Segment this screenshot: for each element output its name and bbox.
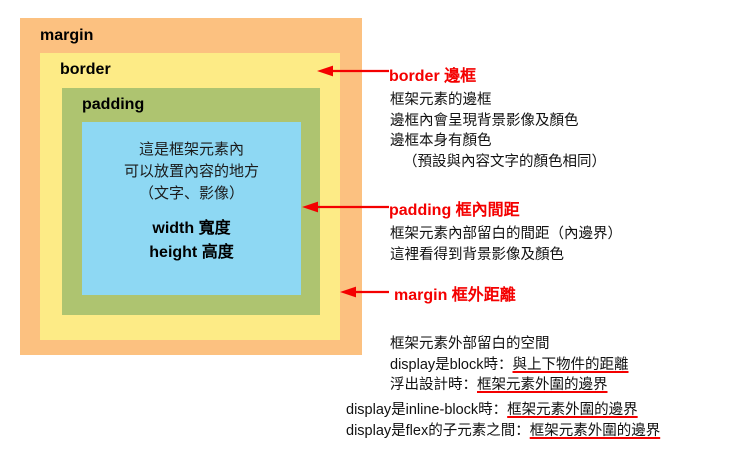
content-box-description: 這是框架元素內 可以放置內容的地方 （文字、影像） bbox=[124, 139, 259, 204]
margin-annotation-line-2: display是block時：與上下物件的距離 bbox=[390, 355, 629, 376]
content-line-1: 這是框架元素內 bbox=[124, 139, 259, 161]
margin-line-2-emphasis: 與上下物件的距離 bbox=[513, 357, 629, 373]
height-label: height 高度 bbox=[149, 241, 233, 265]
content-box-dimensions: width 寬度 height 高度 bbox=[149, 217, 233, 265]
border-annotation-line-3: 邊框本身有顏色 bbox=[390, 131, 606, 152]
bottom-line-1-prefix: display是inline-block時： bbox=[346, 402, 507, 418]
box-model-illustration: margin border padding 這是框架元素內 可以放置內容的地方 … bbox=[0, 0, 750, 461]
bottom-notes-block: display是inline-block時：框架元素外圍的邊界 display是… bbox=[346, 400, 660, 441]
padding-box: padding 這是框架元素內 可以放置內容的地方 （文字、影像） width … bbox=[62, 88, 320, 315]
margin-line-3-prefix: 浮出設計時： bbox=[390, 377, 477, 393]
margin-callout-arrow-icon bbox=[340, 286, 389, 298]
border-box-label: border bbox=[60, 61, 111, 79]
border-annotation-line-1: 框架元素的邊框 bbox=[390, 90, 606, 111]
bottom-line-1-emphasis: 框架元素外圍的邊界 bbox=[507, 402, 638, 418]
content-box: 這是框架元素內 可以放置內容的地方 （文字、影像） width 寬度 heigh… bbox=[82, 122, 301, 295]
bottom-line-2-emphasis: 框架元素外圍的邊界 bbox=[530, 423, 661, 439]
border-annotation-heading: border 邊框 bbox=[389, 62, 476, 86]
border-annotation-line-2: 邊框內會呈現背景影像及顏色 bbox=[390, 111, 606, 132]
margin-annotation-line-1: 框架元素外部留白的空間 bbox=[390, 334, 629, 355]
width-label: width 寬度 bbox=[149, 217, 233, 241]
margin-box-label: margin bbox=[40, 27, 93, 45]
margin-annotation-heading: margin 框外距離 bbox=[394, 281, 516, 305]
margin-annotation-body: 框架元素外部留白的空間 display是block時：與上下物件的距離 浮出設計… bbox=[390, 334, 629, 396]
padding-callout-arrow-icon bbox=[302, 201, 389, 213]
border-callout-arrow-icon bbox=[317, 65, 389, 77]
border-box: border padding 這是框架元素內 可以放置內容的地方 （文字、影像）… bbox=[40, 53, 340, 340]
border-annotation-line-4: （預設與內容文字的顏色相同） bbox=[390, 152, 606, 173]
margin-annotation-line-3: 浮出設計時：框架元素外圍的邊界 bbox=[390, 375, 629, 396]
padding-annotation-body: 框架元素內部留白的間距（內邊界） 這裡看得到背景影像及顏色 bbox=[390, 224, 622, 265]
content-line-2: 可以放置內容的地方 bbox=[124, 161, 259, 183]
bottom-line-2-prefix: display是flex的子元素之間： bbox=[346, 423, 530, 439]
margin-box: margin border padding 這是框架元素內 可以放置內容的地方 … bbox=[20, 18, 362, 355]
padding-box-label: padding bbox=[82, 96, 144, 114]
bottom-note-line-2: display是flex的子元素之間：框架元素外圍的邊界 bbox=[346, 421, 660, 442]
margin-line-3-emphasis: 框架元素外圍的邊界 bbox=[477, 377, 608, 393]
padding-annotation-line-2: 這裡看得到背景影像及顏色 bbox=[390, 245, 622, 266]
margin-line-2-prefix: display是block時： bbox=[390, 357, 513, 373]
padding-annotation-line-1: 框架元素內部留白的間距（內邊界） bbox=[390, 224, 622, 245]
content-line-3: （文字、影像） bbox=[124, 183, 259, 205]
border-annotation-body: 框架元素的邊框 邊框內會呈現背景影像及顏色 邊框本身有顏色 （預設與內容文字的顏… bbox=[390, 90, 606, 172]
bottom-note-line-1: display是inline-block時：框架元素外圍的邊界 bbox=[346, 400, 660, 421]
padding-annotation-heading: padding 框內間距 bbox=[389, 196, 520, 220]
